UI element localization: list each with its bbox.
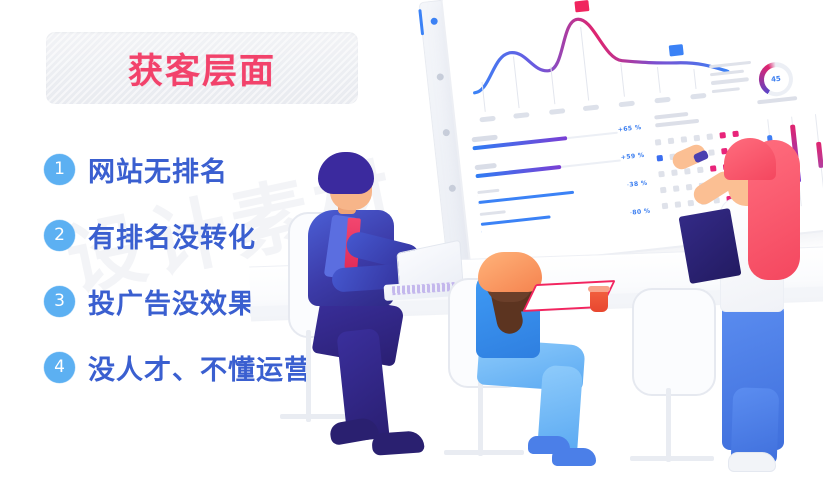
gauge-value: 45	[762, 65, 790, 93]
sidebar-active-indicator	[418, 9, 424, 35]
line-chart-panel	[457, 0, 738, 127]
list-item-badge: 2	[44, 220, 75, 251]
sidebar-dot[interactable]	[436, 73, 444, 81]
page-title: 获客层面	[128, 43, 276, 94]
office-scene-illustration: +65 % +59 % +38 %	[280, 0, 823, 500]
list-item-badge: 4	[44, 352, 75, 383]
gauge-chart: 45	[757, 60, 794, 97]
sidebar-dot[interactable]	[442, 129, 450, 137]
list-item-badge: 1	[44, 154, 75, 185]
list-item-label: 没人才、不懂运营	[88, 348, 312, 387]
progress-pct-label: +59 %	[621, 152, 645, 162]
sidebar-dot-active[interactable]	[430, 17, 438, 25]
list-item-badge: 3	[44, 286, 75, 317]
sidebar-dot[interactable]	[448, 184, 456, 192]
list-item-label: 有排名没转化	[88, 216, 256, 255]
gauge-label-lines	[709, 61, 756, 98]
illustration-canvas: 获客层面 设计素材 1 网站无排名 2 有排名没转化 3 投广告没效果 4 没人…	[0, 0, 823, 500]
progress-pct-label: +65 %	[617, 124, 641, 134]
chart-flag-marker-blue	[669, 44, 684, 56]
chart-flag-marker-red	[574, 0, 589, 12]
list-item-label: 投广告没效果	[88, 282, 256, 321]
list-item-label: 网站无排名	[88, 150, 228, 189]
